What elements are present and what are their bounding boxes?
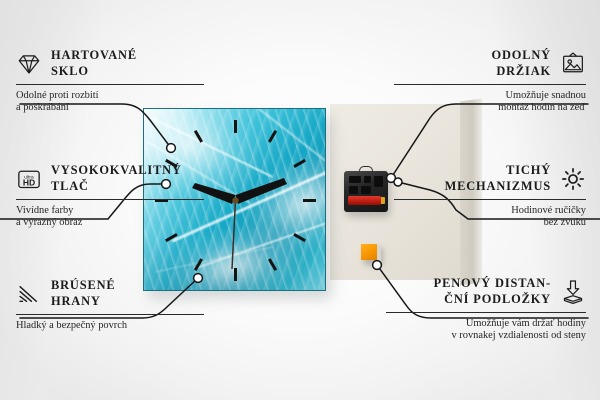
feature-rule (394, 199, 586, 200)
ultra-hd-icon: ultra HD (16, 166, 42, 192)
feature-desc: Odolné proti rozbití a poškrábání (16, 90, 204, 115)
gear-icon (560, 166, 586, 192)
feature-desc: Umožňuje vám držať hodiny v rovnakej vzd… (386, 318, 586, 343)
infographic-canvas: HARTOVANÉ SKLO Odolné proti rozbití a po… (0, 0, 600, 400)
feature-rule (16, 199, 204, 200)
feature-desc: Hladký a bezpečný povrch (16, 320, 204, 333)
feature-high-quality-print: ultra HD VYSOKOKVALITNÝ TLAČ Vivídne far… (16, 163, 204, 230)
feature-foam-spacers: PENOVÝ DISTAN- ČNÍ PODLOŽKY Umožňuje vám… (386, 276, 586, 343)
feature-durable-holder: ODOLNÝ DRŽIAK Umožňuje snadnou montáž ho… (394, 48, 586, 115)
feature-silent-mechanism: TICHÝ MECHANIZMUS Hodinové ručičky bez z… (394, 163, 586, 230)
stacked-pad-arrow-icon (560, 279, 586, 305)
feature-desc: Hodinové ručičky bez zvuku (394, 205, 586, 230)
feature-heading: ODOLNÝ DRŽIAK (394, 48, 586, 79)
feature-title: ODOLNÝ DRŽIAK (492, 48, 552, 79)
feature-title: TICHÝ MECHANIZMUS (445, 163, 551, 194)
feature-rule (16, 84, 204, 85)
feature-heading: PENOVÝ DISTAN- ČNÍ PODLOŽKY (386, 276, 586, 307)
feature-rule (394, 84, 586, 85)
ultra-hd-icon-bottom-label: HD (23, 177, 35, 187)
feature-title: HARTOVANÉ SKLO (51, 48, 137, 79)
feature-title: VYSOKOKVALITNÝ TLAČ (51, 163, 182, 194)
feature-hardened-glass: HARTOVANÉ SKLO Odolné proti rozbití a po… (16, 48, 204, 115)
node-foam-spacers (373, 261, 382, 270)
feature-heading: HARTOVANÉ SKLO (16, 48, 204, 79)
diagonal-lines-icon (16, 281, 42, 307)
feature-title: BRÚSENÉ HRANY (51, 278, 115, 309)
feature-rule (16, 314, 204, 315)
diamond-icon (16, 51, 42, 77)
feature-desc: Umožňuje snadnou montáž hodin na zeď (394, 90, 586, 115)
feature-heading: BRÚSENÉ HRANY (16, 278, 204, 309)
node-hardened-glass (167, 144, 176, 153)
feature-rule (386, 312, 586, 313)
feature-ground-edges: BRÚSENÉ HRANY Hladký a bezpečný povrch (16, 278, 204, 332)
feature-heading: TICHÝ MECHANIZMUS (394, 163, 586, 194)
picture-frame-icon (560, 51, 586, 77)
feature-heading: ultra HD VYSOKOKVALITNÝ TLAČ (16, 163, 204, 194)
feature-desc: Vivídne farby a výrazný obraz (16, 205, 204, 230)
feature-title: PENOVÝ DISTAN- ČNÍ PODLOŽKY (434, 276, 551, 307)
